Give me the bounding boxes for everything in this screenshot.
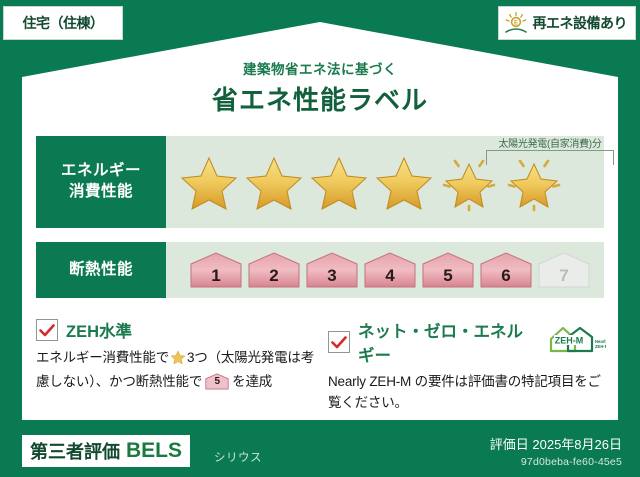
label-footer: 第三者評価 BELS シリウス 評価日 2025年8月26日 97d0beba-… — [0, 429, 640, 477]
building-type-tag: 住宅（住棟） — [3, 6, 123, 40]
star-rating — [166, 151, 565, 213]
star-icon — [243, 151, 305, 213]
grade-number: 1 — [188, 266, 244, 286]
grade-badge: 2 — [246, 251, 302, 289]
label-subtitle: 建築物省エネ法に基づく — [0, 58, 640, 78]
grade-badge: 3 — [304, 251, 360, 289]
grade-badge: 6 — [478, 251, 534, 289]
svg-text:ZEH-M: ZEH-M — [555, 335, 584, 345]
inline-grade-badge: 5 — [204, 373, 230, 390]
bels-en-label: BELS — [126, 439, 182, 463]
grade-number: 4 — [362, 266, 418, 286]
insulation-key-label: 断熱性能 — [69, 260, 133, 281]
grade-badge: 5 — [420, 251, 476, 289]
svg-text:ZEH-M: ZEH-M — [595, 344, 606, 349]
checkbox-zeh[interactable] — [36, 319, 58, 341]
renewable-badge-label: 再エネ設備あり — [533, 13, 628, 33]
criterion-zeh-body: エネルギー消費性能で3つ（太陽光発電は考慮しない）、かつ断熱性能で5を達成 — [36, 348, 314, 393]
grade-number: 3 — [304, 266, 360, 286]
energy-label-card: 住宅（住棟） E 再エネ設備あり 建築物省エネ法に基づく 省エネ性能ラベル エネ — [0, 0, 640, 477]
sun-solar-icon: E — [503, 11, 529, 35]
building-type-tag-label: 住宅（住棟） — [23, 13, 104, 33]
bels-program-name: シリウス — [214, 449, 262, 465]
star-icon-solar — [438, 151, 500, 213]
zeh-body-part3: を達成 — [232, 374, 272, 389]
star-icon-solar — [503, 151, 565, 213]
renewable-equipment-badge: E 再エネ設備あり — [498, 6, 637, 40]
bels-certification-box: 第三者評価 BELS — [22, 435, 190, 467]
star-icon — [308, 151, 370, 213]
evaluation-id: 97d0beba-fe60-45e5 — [490, 456, 622, 468]
svg-text:E: E — [513, 21, 517, 27]
energy-performance-value: 太陽光発電(自家消費)分 — [166, 136, 604, 228]
bels-jp-label: 第三者評価 — [30, 438, 120, 464]
grade-badge: 4 — [362, 251, 418, 289]
criterion-zeh: ZEH水準 エネルギー消費性能で3つ（太陽光発電は考慮しない）、かつ断熱性能で5… — [36, 318, 314, 410]
label-title: 省エネ性能ラベル — [0, 80, 640, 117]
criterion-nze-header: ネット・ゼロ・エネルギー ZEH-M Nearly ZEH-M — [328, 318, 606, 366]
criterion-zeh-title: ZEH水準 — [66, 318, 132, 342]
inline-star-icon — [170, 349, 186, 372]
grade-badge-inactive: 7 — [536, 251, 592, 289]
star-icon — [178, 151, 240, 213]
evaluation-meta: 評価日 2025年8月26日 97d0beba-fe60-45e5 — [490, 434, 622, 468]
grade-number: 5 — [420, 266, 476, 286]
insulation-performance-key: 断熱性能 — [36, 242, 166, 298]
criterion-nze-title: ネット・ゼロ・エネルギー — [358, 318, 536, 366]
energy-performance-key: エネルギー 消費性能 — [36, 136, 166, 228]
zeh-m-logo-icon: ZEH-M Nearly ZEH-M — [548, 325, 606, 360]
zeh-body-part1: エネルギー消費性能で — [36, 350, 169, 365]
grade-badge: 1 — [188, 251, 244, 289]
criteria-section: ZEH水準 エネルギー消費性能で3つ（太陽光発電は考慮しない）、かつ断熱性能で5… — [36, 318, 606, 410]
criterion-nze-body: Nearly ZEH-M の要件は評価書の特記項目をご覧ください。 — [328, 372, 606, 414]
energy-key-line2: 消費性能 — [69, 182, 133, 203]
insulation-performance-value: 1 2 3 4 5 6 7 — [166, 242, 604, 298]
energy-performance-row: エネルギー 消費性能 太陽光発電(自家消費)分 — [36, 136, 604, 228]
criterion-zeh-header: ZEH水準 — [36, 318, 314, 342]
grade-number: 6 — [478, 266, 534, 286]
energy-key-line1: エネルギー — [61, 161, 141, 182]
checkbox-net-zero-energy[interactable] — [328, 331, 350, 353]
insulation-performance-row: 断熱性能 1 2 3 4 5 6 7 — [36, 242, 604, 298]
inline-grade-number: 5 — [204, 374, 230, 390]
grade-number: 7 — [536, 266, 592, 286]
grade-number: 2 — [246, 266, 302, 286]
insulation-grade-scale: 1 2 3 4 5 6 7 — [166, 251, 592, 289]
criterion-net-zero-energy: ネット・ゼロ・エネルギー ZEH-M Nearly ZEH-M Nearly Z… — [328, 318, 606, 410]
evaluation-date: 評価日 2025年8月26日 — [490, 434, 622, 453]
star-icon — [373, 151, 435, 213]
solar-portion-caption: 太陽光発電(自家消費)分 — [482, 135, 618, 150]
